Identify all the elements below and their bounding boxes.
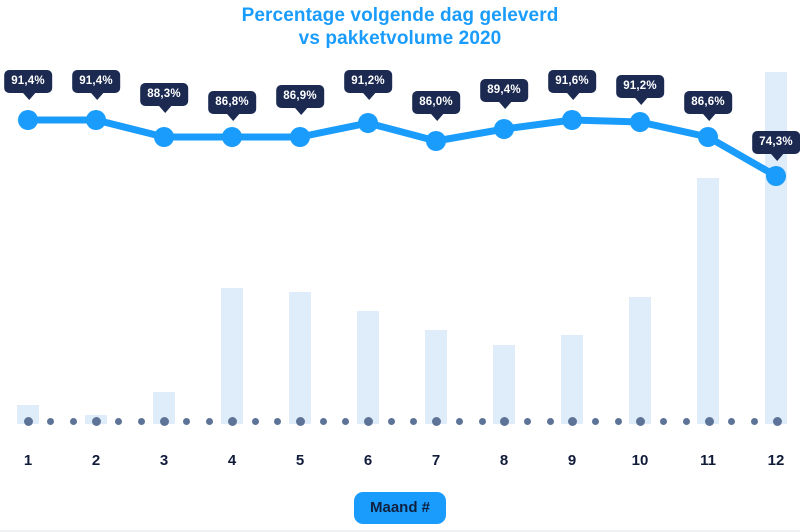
x-tick-label: 9 [568, 452, 576, 469]
x-tick-label: 1 [24, 452, 32, 469]
data-label: 88,3% [140, 83, 188, 106]
data-point-marker[interactable] [18, 110, 38, 130]
data-label: 86,8% [208, 91, 256, 114]
plot-area: 91,4%91,4%88,3%86,8%86,9%91,2%86,0%89,4%… [0, 0, 800, 440]
x-tick-label: 10 [632, 452, 649, 469]
x-tick-label: 3 [160, 452, 168, 469]
data-point-marker[interactable] [698, 127, 718, 147]
data-point-marker[interactable] [358, 113, 378, 133]
x-tick-label: 2 [92, 452, 100, 469]
data-label: 86,9% [276, 85, 324, 108]
data-label: 86,6% [684, 91, 732, 114]
data-point-marker[interactable] [154, 127, 174, 147]
data-point-marker[interactable] [86, 110, 106, 130]
x-tick-label: 5 [296, 452, 304, 469]
data-label: 91,4% [4, 70, 52, 93]
data-label: 89,4% [480, 79, 528, 102]
line-series-svg [0, 0, 800, 440]
data-label: 86,0% [412, 91, 460, 114]
trend-line [28, 120, 776, 176]
data-point-marker[interactable] [222, 127, 242, 147]
data-point-marker[interactable] [630, 112, 650, 132]
x-tick-label: 11 [700, 452, 716, 469]
x-axis-title-badge: Maand # [354, 492, 446, 524]
chart-root: Percentage volgende dag geleverd vs pakk… [0, 0, 800, 532]
data-point-marker[interactable] [290, 127, 310, 147]
data-label: 91,2% [616, 75, 664, 98]
data-point-marker[interactable] [562, 110, 582, 130]
x-tick-label: 6 [364, 452, 372, 469]
data-label: 91,2% [344, 70, 392, 93]
data-point-marker[interactable] [426, 131, 446, 151]
x-tick-label: 8 [500, 452, 508, 469]
x-tick-label: 12 [768, 452, 785, 469]
data-point-marker[interactable] [766, 166, 786, 186]
data-label: 74,3% [752, 131, 800, 154]
x-tick-label: 7 [432, 452, 440, 469]
data-label: 91,6% [548, 70, 596, 93]
data-point-marker[interactable] [494, 119, 514, 139]
x-tick-label: 4 [228, 452, 236, 469]
data-label: 91,4% [72, 70, 120, 93]
